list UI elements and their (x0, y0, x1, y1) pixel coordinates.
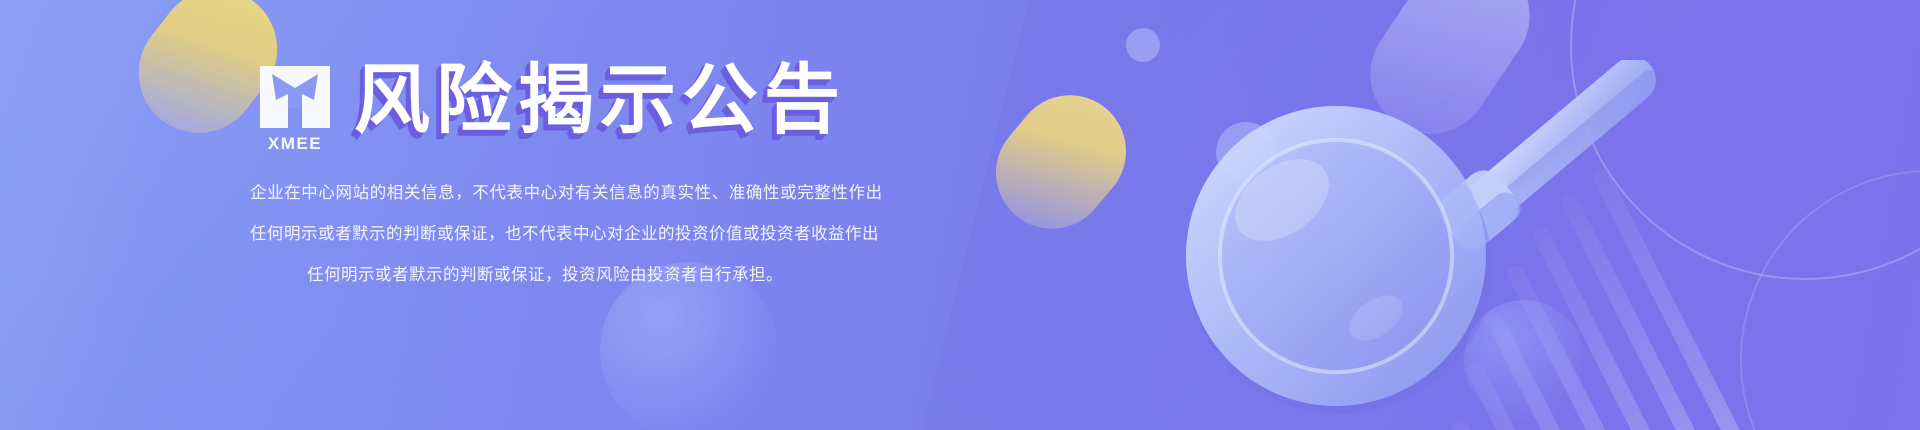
disclaimer-line-1: 企业在中心网站的相关信息，不代表中心对有关信息的真实性、准确性或完整性作出 (250, 172, 840, 213)
decorative-arc-top (1570, 0, 1920, 280)
brand-logo: XMEE (258, 58, 332, 154)
title-row: XMEE 风险揭示公告 (258, 58, 846, 154)
decorative-circle-right (1464, 300, 1584, 420)
risk-disclosure-banner: XMEE 风险揭示公告 企业在中心网站的相关信息，不代表中心对有关信息的真实性、… (0, 0, 1920, 430)
accent-capsule-light-right (1347, 0, 1553, 157)
disclaimer-line-2: 任何明示或者默示的判断或保证，也不代表中心对企业的投资价值或投资者收益作出 (250, 213, 840, 254)
decorative-circle-small (1216, 122, 1276, 182)
decorative-arc-bottom (1740, 170, 1920, 430)
banner-content: XMEE 风险揭示公告 企业在中心网站的相关信息，不代表中心对有关信息的真实性、… (0, 0, 1090, 430)
page-title: 风险揭示公告 (354, 58, 846, 142)
decorative-stripes (1335, 36, 1920, 430)
brand-wordmark: XMEE (268, 134, 322, 154)
xmee-crown-shield-icon (258, 64, 332, 130)
disclaimer-line-3: 任何明示或者默示的判断或保证，投资风险由投资者自行承担。 (250, 254, 840, 295)
disclaimer-text: 企业在中心网站的相关信息，不代表中心对有关信息的真实性、准确性或完整性作出 任何… (0, 172, 1090, 295)
decorative-circle-tiny (1126, 28, 1160, 62)
magnifying-glass-icon (1150, 60, 1710, 420)
background-band-right (1143, 0, 1858, 430)
